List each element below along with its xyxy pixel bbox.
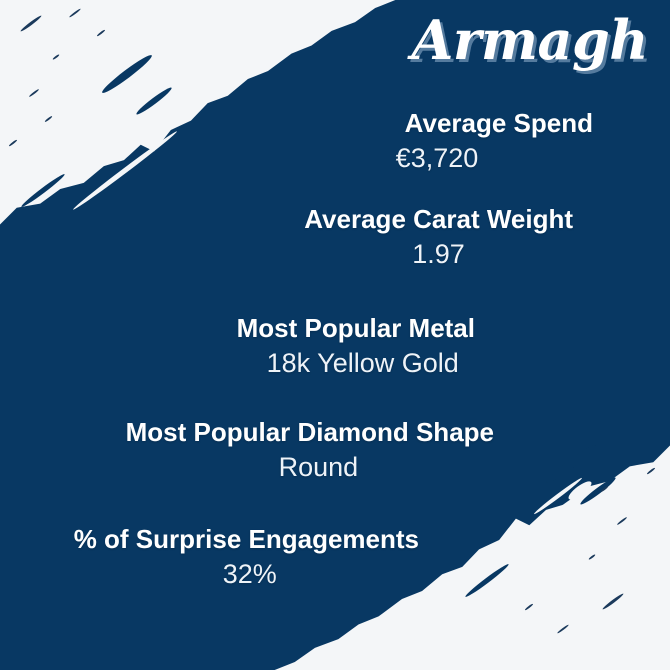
stat-value-average-carat-weight: 1.97 — [412, 238, 573, 270]
stat-label-average-spend: Average Spend — [405, 108, 593, 139]
stat-item: % of Surprise Engagements 32% — [74, 524, 419, 590]
stat-value-most-popular-metal: 18k Yellow Gold — [267, 347, 475, 379]
infographic-card: Armagh Average Spend €3,720 Average Cara… — [0, 0, 670, 670]
stat-value-most-popular-diamond-shape: Round — [279, 451, 494, 483]
stat-label-most-popular-metal: Most Popular Metal — [237, 313, 475, 344]
stat-value-average-spend: €3,720 — [396, 142, 593, 174]
stat-item: Most Popular Diamond Shape Round — [126, 417, 494, 483]
stat-value-surprise-engagements: 32% — [223, 558, 419, 590]
stat-label-most-popular-diamond-shape: Most Popular Diamond Shape — [126, 417, 494, 448]
stat-list: Average Spend €3,720 Average Carat Weigh… — [0, 0, 670, 670]
stat-label-average-carat-weight: Average Carat Weight — [304, 204, 573, 235]
stat-item: Average Carat Weight 1.97 — [304, 204, 573, 270]
stat-item: Average Spend €3,720 — [405, 108, 593, 174]
stat-label-surprise-engagements: % of Surprise Engagements — [74, 524, 419, 555]
stat-item: Most Popular Metal 18k Yellow Gold — [237, 313, 475, 379]
